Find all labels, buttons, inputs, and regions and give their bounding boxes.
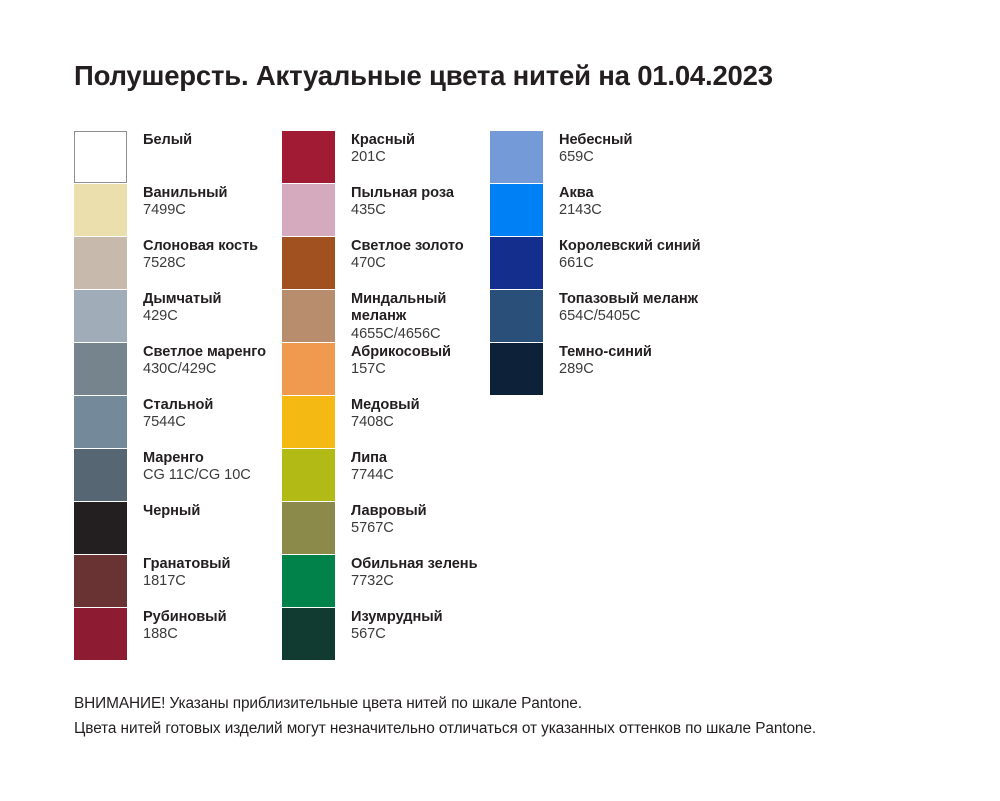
color-pantone-code: 567C (351, 626, 443, 643)
color-swatch (282, 449, 335, 501)
color-entry: Королевский синий661C (490, 237, 790, 290)
color-swatch (282, 290, 335, 342)
color-name: Медовый (351, 397, 420, 414)
color-entry: Гранатовый1817C (74, 555, 282, 608)
color-label-block: Светлое золото470C (335, 237, 464, 273)
color-name: Липа (351, 450, 394, 467)
color-label-block: Гранатовый1817C (127, 555, 230, 591)
color-name: Слоновая кость (143, 238, 258, 255)
color-label-block: Лавровый5767C (335, 502, 427, 538)
palette-page: Полушерсть. Актуальные цвета нитей на 01… (0, 0, 1000, 801)
color-pantone-code: 7499C (143, 202, 227, 219)
color-entry: Изумрудный567C (282, 608, 490, 661)
color-pantone-code: 7544C (143, 414, 213, 431)
color-name: Лавровый (351, 503, 427, 520)
color-pantone-code: 188C (143, 626, 227, 643)
color-entry: Пыльная роза435C (282, 184, 490, 237)
color-entry: Светлое маренго430C/429C (74, 343, 282, 396)
palette-column-warm: Красный201CПыльная роза435CСветлое золот… (282, 131, 490, 661)
color-name: Стальной (143, 397, 213, 414)
color-name: Темно-синий (559, 344, 652, 361)
color-entry: Лавровый5767C (282, 502, 490, 555)
color-swatch (74, 237, 127, 289)
color-label-block: Пыльная роза435C (335, 184, 454, 220)
color-pantone-code: 659C (559, 149, 632, 166)
color-label-block: Темно-синий289C (543, 343, 652, 379)
disclaimer-note: ВНИМАНИЕ! Указаны приблизительные цвета … (74, 692, 964, 742)
color-swatch (282, 131, 335, 183)
color-name: Маренго (143, 450, 251, 467)
color-swatch (74, 449, 127, 501)
color-swatch (282, 343, 335, 395)
color-swatch (490, 237, 543, 289)
color-name: Светлое маренго (143, 344, 266, 361)
color-name: Рубиновый (143, 609, 227, 626)
color-swatch (74, 290, 127, 342)
color-name: Светлое золото (351, 238, 464, 255)
color-pantone-code: CG 11C/CG 10C (143, 467, 251, 484)
color-name: Топазовый меланж (559, 291, 698, 308)
color-name: Небесный (559, 132, 632, 149)
color-label-block: Слоновая кость7528C (127, 237, 258, 273)
color-pantone-code: 5767C (351, 520, 427, 537)
color-label-block: Рубиновый188C (127, 608, 227, 644)
color-swatch (74, 608, 127, 660)
color-swatch (490, 131, 543, 183)
palette-column-neutrals: БелыйВанильный7499CСлоновая кость7528CДы… (74, 131, 282, 661)
color-swatch (282, 608, 335, 660)
color-name: Гранатовый (143, 556, 230, 573)
color-label-block: Красный201C (335, 131, 415, 167)
color-entry: Ванильный7499C (74, 184, 282, 237)
color-pantone-code: 435C (351, 202, 454, 219)
color-label-block: Абрикосовый157C (335, 343, 451, 379)
color-label-block: Королевский синий661C (543, 237, 701, 273)
color-label-block: Ванильный7499C (127, 184, 227, 220)
color-pantone-code: 429C (143, 308, 221, 325)
color-swatch (74, 396, 127, 448)
color-swatch (74, 343, 127, 395)
palette-grid: БелыйВанильный7499CСлоновая кость7528CДы… (74, 131, 954, 661)
color-swatch (282, 396, 335, 448)
color-name: Обильная зелень (351, 556, 478, 573)
color-entry: Липа7744C (282, 449, 490, 502)
color-pantone-code: 661C (559, 255, 701, 272)
color-entry: Аква2143C (490, 184, 790, 237)
color-name: Пыльная роза (351, 185, 454, 202)
color-entry: Красный201C (282, 131, 490, 184)
color-entry: Топазовый меланж654C/5405C (490, 290, 790, 343)
color-entry: МаренгоCG 11C/CG 10C (74, 449, 282, 502)
color-entry: Небесный659C (490, 131, 790, 184)
color-pantone-code: 4655C/4656C (351, 326, 446, 343)
color-pantone-code: 201C (351, 149, 415, 166)
page-title: Полушерсть. Актуальные цвета нитей на 01… (74, 60, 944, 92)
color-pantone-code: 654C/5405C (559, 308, 698, 325)
color-label-block: Топазовый меланж654C/5405C (543, 290, 698, 326)
color-label-block: Миндальный меланж4655C/4656C (335, 290, 446, 343)
color-entry: Светлое золото470C (282, 237, 490, 290)
color-label-block: Белый (127, 131, 192, 149)
color-pantone-code: 7408C (351, 414, 420, 431)
color-swatch (282, 237, 335, 289)
color-entry: Миндальный меланж4655C/4656C (282, 290, 490, 343)
color-entry: Обильная зелень7732C (282, 555, 490, 608)
color-swatch (490, 290, 543, 342)
color-label-block: Стальной7544C (127, 396, 213, 432)
color-swatch (282, 502, 335, 554)
color-entry: Рубиновый188C (74, 608, 282, 661)
color-entry: Черный (74, 502, 282, 555)
color-name: Абрикосовый (351, 344, 451, 361)
color-pantone-code: 157C (351, 361, 451, 378)
color-name: Черный (143, 503, 200, 520)
color-pantone-code: 289C (559, 361, 652, 378)
color-entry: Слоновая кость7528C (74, 237, 282, 290)
disclaimer-line-2: Цвета нитей готовых изделий могут незнач… (74, 717, 964, 742)
color-entry: Медовый7408C (282, 396, 490, 449)
color-swatch (74, 131, 127, 183)
color-name: Миндальный меланж (351, 291, 446, 326)
color-entry: Стальной7544C (74, 396, 282, 449)
color-entry: Дымчатый429C (74, 290, 282, 343)
color-label-block: Дымчатый429C (127, 290, 221, 326)
color-name: Королевский синий (559, 238, 701, 255)
color-pantone-code: 470C (351, 255, 464, 272)
color-label-block: Изумрудный567C (335, 608, 443, 644)
color-label-block: Черный (127, 502, 200, 520)
color-swatch (74, 502, 127, 554)
color-name: Изумрудный (351, 609, 443, 626)
color-swatch (74, 184, 127, 236)
color-swatch (74, 555, 127, 607)
color-label-block: Медовый7408C (335, 396, 420, 432)
color-label-block: Липа7744C (335, 449, 394, 485)
palette-column-blues: Небесный659CАква2143CКоролевский синий66… (490, 131, 790, 396)
color-entry: Абрикосовый157C (282, 343, 490, 396)
color-swatch (490, 343, 543, 395)
color-pantone-code: 430C/429C (143, 361, 266, 378)
disclaimer-line-1: ВНИМАНИЕ! Указаны приблизительные цвета … (74, 692, 964, 717)
color-pantone-code: 1817C (143, 573, 230, 590)
color-swatch (282, 555, 335, 607)
color-pantone-code: 7732C (351, 573, 478, 590)
color-swatch (490, 184, 543, 236)
color-label-block: Обильная зелень7732C (335, 555, 478, 591)
color-pantone-code: 7528C (143, 255, 258, 272)
color-pantone-code: 7744C (351, 467, 394, 484)
color-pantone-code: 2143C (559, 202, 602, 219)
color-label-block: МаренгоCG 11C/CG 10C (127, 449, 251, 485)
color-swatch (282, 184, 335, 236)
color-name: Красный (351, 132, 415, 149)
color-label-block: Светлое маренго430C/429C (127, 343, 266, 379)
color-name: Аква (559, 185, 602, 202)
color-name: Белый (143, 132, 192, 149)
color-entry: Темно-синий289C (490, 343, 790, 396)
color-entry: Белый (74, 131, 282, 184)
color-label-block: Небесный659C (543, 131, 632, 167)
color-name: Ванильный (143, 185, 227, 202)
color-label-block: Аква2143C (543, 184, 602, 220)
color-name: Дымчатый (143, 291, 221, 308)
